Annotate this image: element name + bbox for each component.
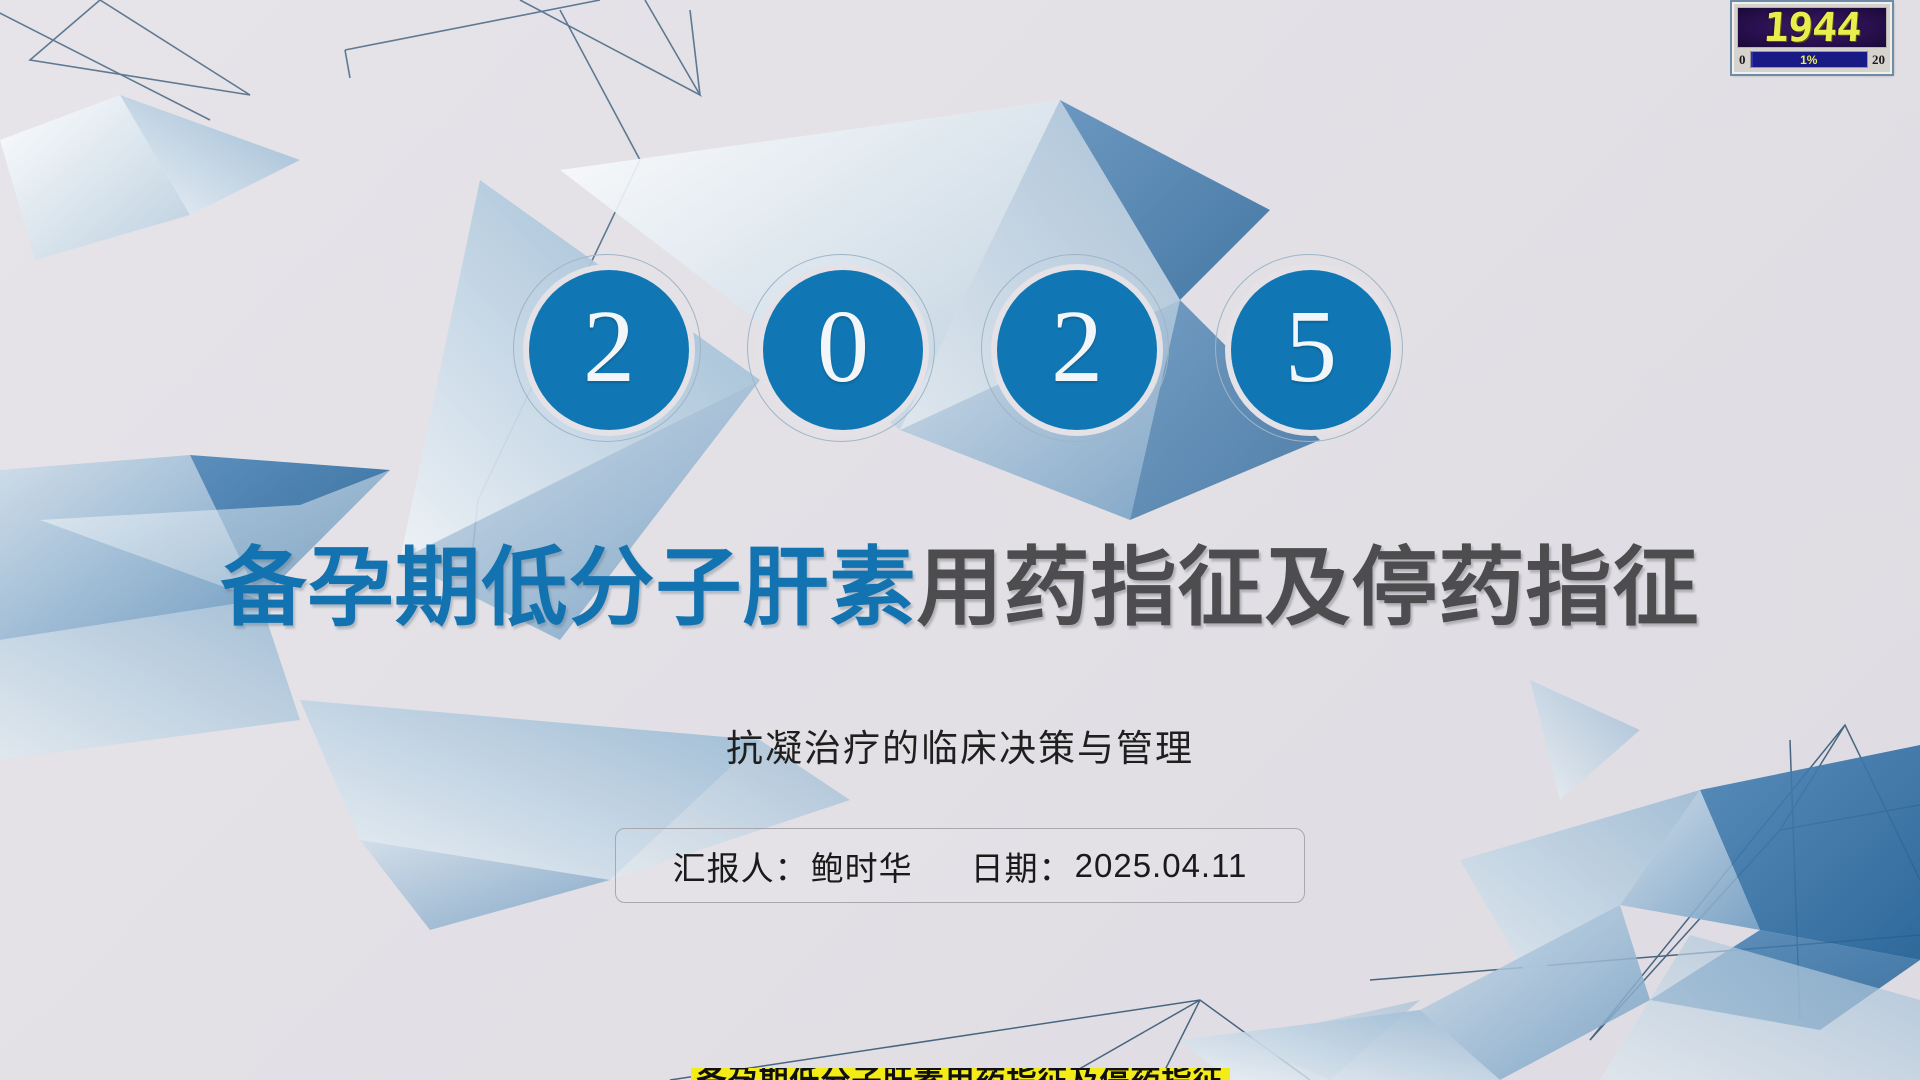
presenter-speaker-label: 汇报人： bbox=[673, 842, 809, 890]
caption-text: 备孕期低分子肝素用药指征及停药指征 bbox=[691, 1068, 1230, 1080]
year-digit-cell-0: 2 bbox=[511, 252, 707, 448]
presenter-speaker-value: 鲍时华 bbox=[811, 842, 913, 890]
year-digit-label-0: 2 bbox=[583, 295, 635, 399]
slide-subtitle: 抗凝治疗的临床决策与管理 bbox=[0, 718, 1920, 772]
timer-progress-bar[interactable]: 1% bbox=[1750, 51, 1869, 68]
presenter-info-box: 汇报人： 鲍时华 日期： 2025.04.11 bbox=[615, 828, 1305, 903]
slide-title-blue-part: 备孕期低分子肝素 bbox=[221, 540, 917, 636]
timer-progress-row: 0 1% 20 bbox=[1737, 50, 1887, 69]
year-disc-3: 5 bbox=[1231, 270, 1391, 430]
year-disc-2: 2 bbox=[997, 270, 1157, 430]
timer-widget[interactable]: 1944 0 1% 20 bbox=[1732, 2, 1892, 74]
year-digit-cell-1: 0 bbox=[745, 252, 941, 448]
presenter-speaker-field: 汇报人： 鲍时华 bbox=[673, 842, 913, 890]
presenter-date-label: 日期： bbox=[971, 842, 1073, 890]
year-disc-0: 2 bbox=[529, 270, 689, 430]
timer-display: 1944 bbox=[1737, 7, 1887, 48]
year-digit-cell-2: 2 bbox=[979, 252, 1175, 448]
year-digit-label-1: 0 bbox=[817, 295, 869, 399]
timer-min-label: 0 bbox=[1739, 53, 1746, 66]
timer-digits: 1944 bbox=[1762, 8, 1862, 48]
timer-progress-fill bbox=[1751, 52, 1753, 67]
presentation-slide: 2 0 2 5 备孕期低分子肝素用药指征及停药指征 抗凝治疗的临床决策与管理 bbox=[0, 0, 1920, 1080]
year-digit-label-3: 5 bbox=[1285, 295, 1337, 399]
presenter-date-value: 2025.04.11 bbox=[1075, 847, 1248, 885]
year-digit-label-2: 2 bbox=[1051, 295, 1103, 399]
caption-strip: 备孕期低分子肝素用药指征及停药指征 bbox=[0, 1068, 1920, 1080]
timer-progress-label: 1% bbox=[1800, 54, 1817, 66]
timer-max-label: 20 bbox=[1872, 53, 1885, 66]
slide-title-gray-part: 用药指征及停药指征 bbox=[917, 540, 1700, 636]
year-disc-1: 0 bbox=[763, 270, 923, 430]
slide-title: 备孕期低分子肝素用药指征及停药指征 bbox=[0, 543, 1920, 633]
year-digit-cell-3: 5 bbox=[1213, 252, 1409, 448]
presenter-date-field: 日期： 2025.04.11 bbox=[971, 842, 1248, 890]
year-badge-2025: 2 0 2 5 bbox=[0, 252, 1920, 448]
